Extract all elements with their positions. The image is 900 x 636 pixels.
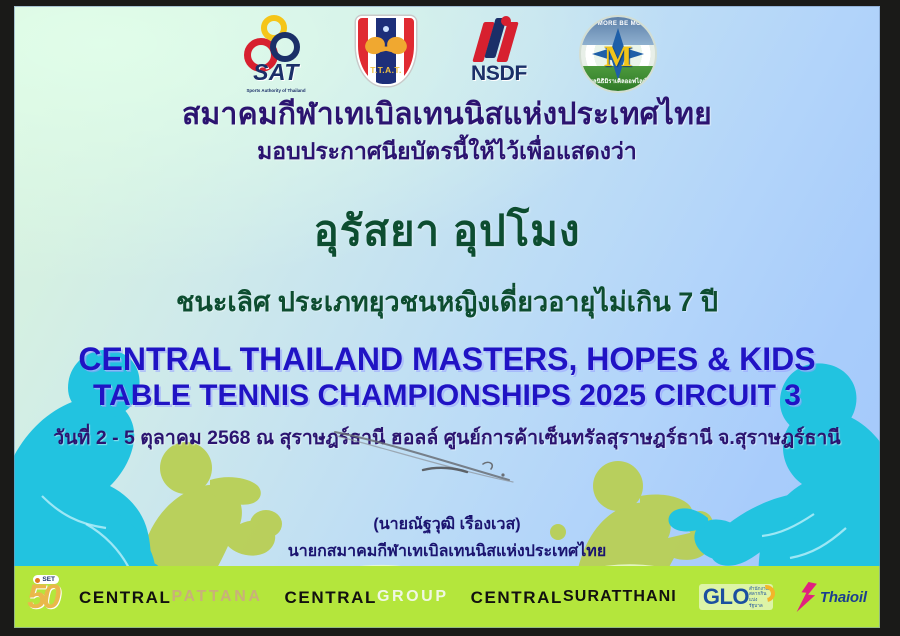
- signatory-name: (นายณัฐวุฒิ เรืองเวส): [14, 512, 880, 537]
- central-suratthani-logo: CENTRAL SURATTHANI: [471, 589, 677, 606]
- sponsor-strip: 50 SET CENTRAL PATTANA CENTRAL GROUP CEN…: [14, 566, 880, 628]
- ttat-logo: T.T.A.T.: [350, 12, 422, 96]
- sat-logo: SAT Sports Authority of Thailand: [234, 12, 318, 96]
- ttat-shield: T.T.A.T.: [356, 16, 416, 86]
- m-badge-top-text: DO MORE BE MORE: [581, 21, 655, 27]
- thaioil-label: Thaioil: [820, 589, 867, 606]
- award-intro-line: มอบประกาศนียบัตรนี้ให้ไว้เพื่อแสดงว่า: [14, 134, 880, 170]
- m-badge-bottom-text: มูลนิธิมิราเคิลออฟไลฟ์: [581, 76, 655, 86]
- signature-mark: [327, 426, 567, 486]
- central-group-line1: CENTRAL: [285, 589, 377, 606]
- central-group-line2: GROUP: [377, 589, 449, 605]
- set-50-logo: 50 SET: [27, 577, 57, 617]
- ttat-logo-text: T.T.A.T.: [358, 65, 414, 75]
- central-pattana-line1: CENTRAL: [79, 589, 171, 606]
- signature-block: (นายณัฐวุฒิ เรืองเวส) นายกสมาคมกีฬาเทเบิ…: [14, 426, 880, 564]
- ttat-paddle-right-icon: [385, 34, 409, 56]
- organization-name: สมาคมกีฬาเทเบิลเทนนิสแห่งประเทศไทย: [14, 98, 880, 132]
- certificate-text-block: สมาคมกีฬาเทเบิลเทนนิสแห่งประเทศไทย มอบปร…: [14, 98, 880, 453]
- logo-row: SAT Sports Authority of Thailand T.T.A.T…: [14, 12, 880, 96]
- nsdf-logo: NSDF: [454, 12, 544, 96]
- certificate: SAT Sports Authority of Thailand T.T.A.T…: [14, 6, 880, 628]
- sat-logo-text: SAT: [234, 59, 318, 86]
- central-suratthani-line2: SURATTHANI: [563, 589, 677, 605]
- thaioil-flame-icon: [795, 582, 817, 612]
- glo-line1: GLO: [703, 586, 749, 608]
- signatory-title: นายกสมาคมกีฬาเทเบิลเทนนิสแห่งประเทศไทย: [14, 539, 880, 564]
- sat-ring-blue: [270, 32, 300, 62]
- m-badge-logo: M DO MORE BE MORE มูลนิธิมิราเคิลออฟไลฟ์: [576, 12, 660, 96]
- central-pattana-logo: CENTRAL PATTANA: [79, 589, 263, 606]
- ttat-ball-icon: [383, 26, 389, 32]
- screenshot-root: SAT Sports Authority of Thailand T.T.A.T…: [0, 0, 900, 636]
- achievement-line: ชนะเลิศ ประเภทยุวชนหญิงเดี่ยวอายุไม่เกิน…: [14, 280, 880, 323]
- m-badge-circle: M DO MORE BE MORE มูลนิธิมิราเคิลออฟไลฟ์: [579, 15, 657, 93]
- event-title-line-2: TABLE TENNIS CHAMPIONSHIPS 2025 CIRCUIT …: [14, 379, 880, 413]
- central-suratthani-line1: CENTRAL: [471, 589, 563, 606]
- ttat-paddle-left-icon: [363, 34, 387, 56]
- m-badge-letter: M: [581, 40, 655, 74]
- thaioil-logo: Thaioil: [795, 582, 867, 612]
- central-pattana-line2: PATTANA: [171, 589, 262, 605]
- glo-logo: GLO สำนักงานสลากกินแบ่งรัฐบาล: [699, 584, 773, 611]
- set-badge-label: SET: [33, 575, 59, 584]
- nsdf-logo-text: NSDF: [454, 62, 544, 86]
- nsdf-mark-icon: [474, 16, 524, 62]
- sat-logo-subtitle: Sports Authority of Thailand: [234, 88, 318, 93]
- event-title-line-1: CENTRAL THAILAND MASTERS, HOPES & KIDS: [14, 341, 880, 378]
- recipient-name: อุรัสยา อุปโมง: [14, 198, 880, 264]
- central-group-logo: CENTRAL GROUP: [285, 589, 449, 606]
